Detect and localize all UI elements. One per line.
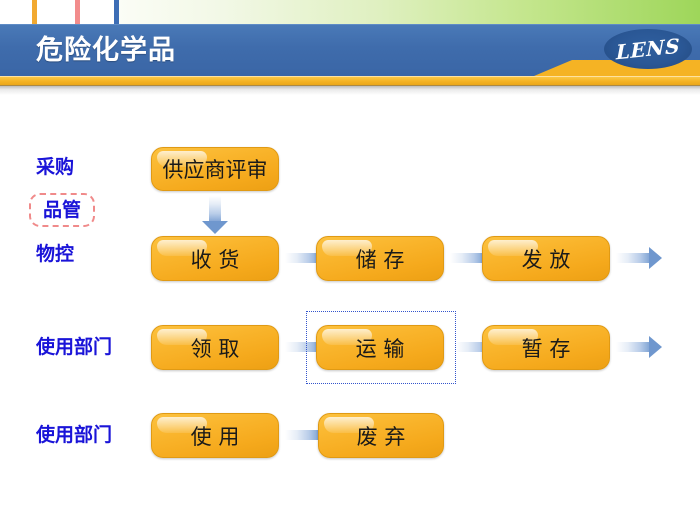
arrow-shaft xyxy=(450,253,484,263)
tick-orange-icon xyxy=(32,0,37,24)
node-transport[interactable]: 运 输 xyxy=(316,325,444,370)
arrow-head xyxy=(649,247,662,269)
arrow-issue-outbound xyxy=(616,247,662,269)
node-temp-storage[interactable]: 暂 存 xyxy=(482,325,610,370)
node-use-label: 使 用 xyxy=(191,421,240,451)
page-title: 危险化学品 xyxy=(36,33,176,69)
arrow-shaft xyxy=(616,342,650,352)
node-dispose-label: 废 弃 xyxy=(357,421,406,451)
arrow-shaft xyxy=(285,430,319,440)
row-label-material-control: 物控 xyxy=(36,242,74,266)
row-label-quality[interactable]: 品管 xyxy=(29,193,95,227)
logo-text: LENS xyxy=(604,24,692,73)
arrow-temp-storage-outbound xyxy=(616,336,662,358)
node-receiving-label: 收 货 xyxy=(191,244,240,274)
arrow-shaft xyxy=(285,253,319,263)
arrow-shaft xyxy=(209,196,221,222)
row-label-using-dept-2: 使用部门 xyxy=(36,423,112,447)
node-issue-label: 发 放 xyxy=(522,244,571,274)
node-receiving[interactable]: 收 货 xyxy=(151,236,279,281)
flow-diagram: 采购 品管 物控 使用部门 使用部门 供应商评审 收 货 储 存 xyxy=(0,95,700,525)
node-storage-label: 储 存 xyxy=(356,244,405,274)
node-transport-label: 运 输 xyxy=(356,333,405,363)
node-dispose[interactable]: 废 弃 xyxy=(318,413,444,458)
tick-pink-icon xyxy=(75,0,80,24)
arrow-shaft xyxy=(616,253,650,263)
top-decoration-strip xyxy=(0,0,700,24)
slide-canvas: 危险化学品 LENS 采购 品管 物控 使用部门 使用部门 供应商评审 收 货 xyxy=(0,0,700,525)
lens-logo: LENS xyxy=(604,29,692,69)
node-storage[interactable]: 储 存 xyxy=(316,236,444,281)
row-label-purchasing: 采购 xyxy=(36,155,74,179)
header-drop-shadow xyxy=(0,85,700,95)
node-use[interactable]: 使 用 xyxy=(151,413,279,458)
top-green-gradient xyxy=(118,0,700,24)
node-supplier-review[interactable]: 供应商评审 xyxy=(151,147,279,191)
node-collect[interactable]: 领 取 xyxy=(151,325,279,370)
arrow-down-supplier-to-receiving xyxy=(202,196,228,234)
tick-blue-icon xyxy=(114,0,119,24)
node-temp-storage-label: 暂 存 xyxy=(522,333,571,363)
node-issue[interactable]: 发 放 xyxy=(482,236,610,281)
arrow-head xyxy=(649,336,662,358)
node-supplier-review-label: 供应商评审 xyxy=(163,154,268,184)
arrow-head xyxy=(202,221,228,234)
node-collect-label: 领 取 xyxy=(191,333,240,363)
row-label-using-dept-1: 使用部门 xyxy=(36,335,112,359)
